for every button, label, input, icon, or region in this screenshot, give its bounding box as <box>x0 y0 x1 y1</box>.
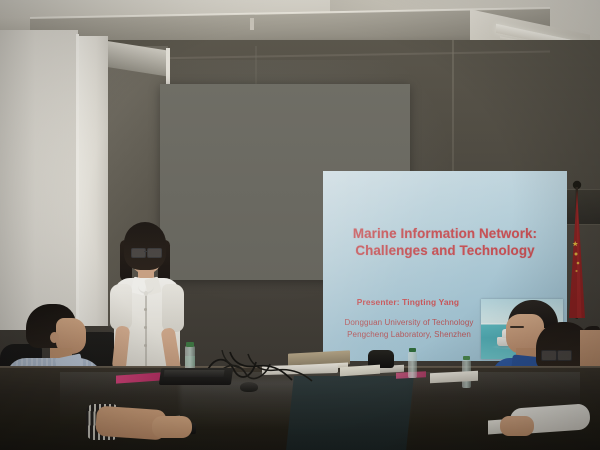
foreground-hand-right <box>500 416 534 436</box>
seated-man-right-eyebrow <box>510 326 524 328</box>
meeting-room-photo: Marine Information Network: Challenges a… <box>0 0 600 450</box>
seated-man-left-ear <box>50 332 59 343</box>
seated-woman-glasses-left-lens <box>541 350 557 361</box>
water-bottle-right <box>408 352 417 378</box>
presenter-necklace-pendant <box>144 291 148 296</box>
presenter-shirt-button-1 <box>144 308 147 311</box>
table-mat <box>286 376 414 450</box>
presenter-hair <box>124 222 166 270</box>
laptop-keyboard <box>164 370 225 377</box>
water-bottle-cap-right <box>409 348 416 352</box>
left-pillar-face <box>0 30 78 330</box>
presenter-shirt-button-2 <box>144 326 147 329</box>
projection-screen: Marine Information Network: Challenges a… <box>160 84 410 280</box>
presenter-sleeve-right <box>162 284 184 332</box>
presenter-glasses-bridge <box>144 251 147 252</box>
foreground-hands-right <box>500 400 600 450</box>
foreground-hand-left <box>152 416 192 438</box>
presenter-glasses-right-lens <box>147 248 162 258</box>
presenter-glasses-left-lens <box>131 248 146 258</box>
presenter-shirt-button-3 <box>144 344 147 347</box>
ceiling-hook <box>250 18 254 30</box>
left-pillar-corner <box>76 34 79 328</box>
presenter-shirt-placket <box>145 292 147 368</box>
seated-woman-glasses-right-lens <box>557 350 572 361</box>
water-bottle-cap-far-right <box>463 356 470 360</box>
water-bottle-cap-center <box>186 342 194 347</box>
wall-seam-center <box>255 46 257 86</box>
mouse <box>240 382 258 392</box>
foreground-hands-left <box>96 400 206 450</box>
